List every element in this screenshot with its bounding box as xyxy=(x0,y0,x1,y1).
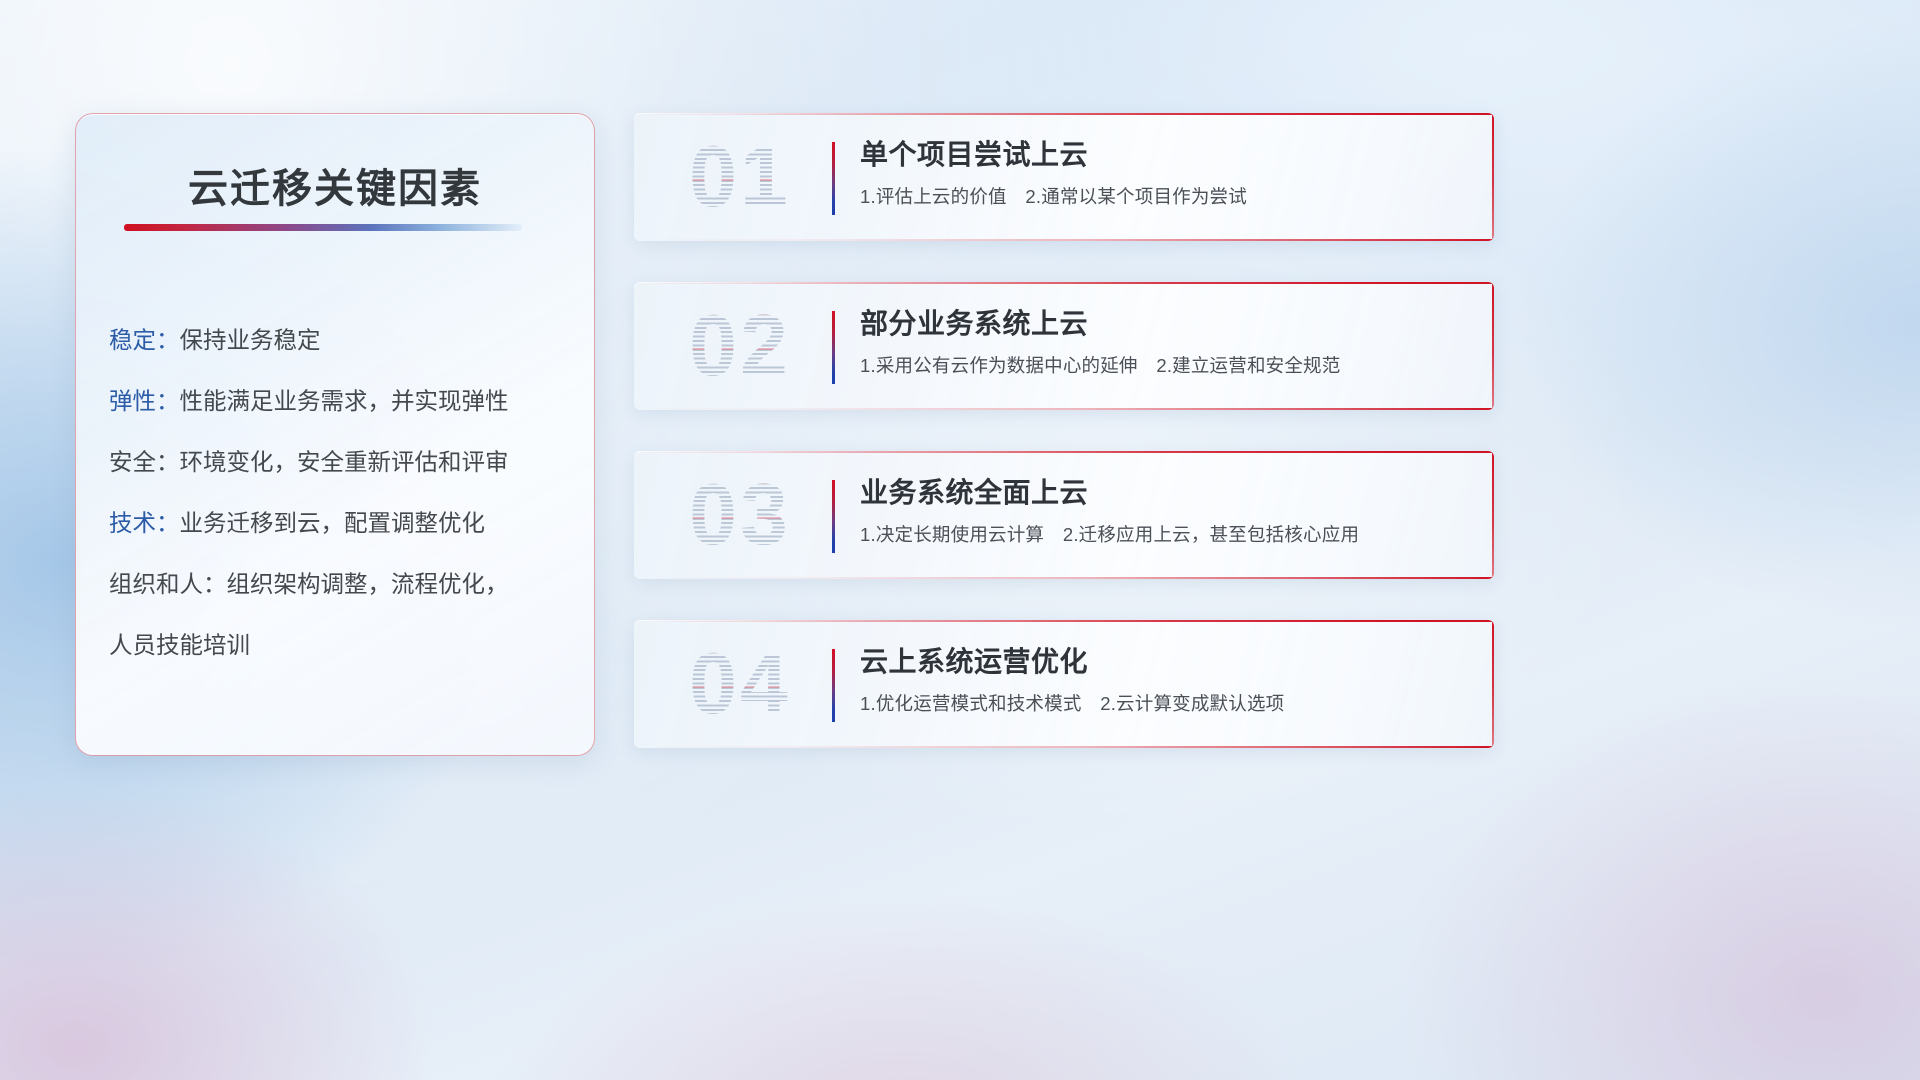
card-title: 云上系统运营优化 xyxy=(860,642,1470,682)
step-number-watermark-red-accent: 03 xyxy=(656,465,824,565)
factor-text: 性能满足业务需求，并实现弹性 xyxy=(180,388,509,414)
factor-label: 技术： xyxy=(109,510,180,536)
card-bottom-accent-line xyxy=(634,239,1494,241)
step-card[interactable]: 0202部分业务系统上云1.采用公有云作为数据中心的延伸 2.建立运营和安全规范 xyxy=(634,282,1494,410)
card-top-accent-line xyxy=(634,620,1494,622)
card-body: 业务系统全面上云1.决定长期使用云计算 2.迁移应用上云，甚至包括核心应用 xyxy=(860,473,1470,548)
card-bottom-accent-line xyxy=(634,408,1494,410)
key-factors-panel: 云迁移关键因素 稳定：保持业务稳定弹性：性能满足业务需求，并实现弹性安全：环境变… xyxy=(75,113,595,756)
factor-label: 弹性： xyxy=(109,388,180,414)
card-body: 部分业务系统上云1.采用公有云作为数据中心的延伸 2.建立运营和安全规范 xyxy=(860,304,1470,379)
card-title: 业务系统全面上云 xyxy=(860,473,1470,513)
card-divider-bar xyxy=(832,480,835,553)
factor-row: 安全：环境变化，安全重新评估和评审 xyxy=(109,432,570,493)
factor-row: 组织和人：组织架构调整，流程优化， xyxy=(109,554,570,615)
card-top-accent-line xyxy=(634,451,1494,453)
factor-text: 人员技能培训 xyxy=(109,632,250,658)
card-title: 部分业务系统上云 xyxy=(860,304,1470,344)
migration-steps-list: 0101单个项目尝试上云1.评估上云的价值 2.通常以某个项目作为尝试0202部… xyxy=(634,113,1494,789)
card-top-accent-line xyxy=(634,282,1494,284)
card-divider-bar xyxy=(832,649,835,722)
card-divider-bar xyxy=(832,311,835,384)
step-number-watermark-red-accent: 02 xyxy=(656,296,824,396)
factor-text: 业务迁移到云，配置调整优化 xyxy=(180,510,486,536)
step-number-watermark-red-accent: 01 xyxy=(656,127,824,227)
title-underline-accent xyxy=(124,224,522,231)
factor-label: 安全： xyxy=(109,449,180,475)
card-title: 单个项目尝试上云 xyxy=(860,135,1470,175)
step-card[interactable]: 0303业务系统全面上云1.决定长期使用云计算 2.迁移应用上云，甚至包括核心应… xyxy=(634,451,1494,579)
card-right-accent-line xyxy=(1492,282,1494,410)
card-body: 单个项目尝试上云1.评估上云的价值 2.通常以某个项目作为尝试 xyxy=(860,135,1470,210)
factor-row: 弹性：性能满足业务需求，并实现弹性 xyxy=(109,371,570,432)
factor-text: 环境变化，安全重新评估和评审 xyxy=(180,449,509,475)
factor-text: 组织架构调整，流程优化， xyxy=(227,571,509,597)
factor-text: 保持业务稳定 xyxy=(180,327,321,353)
card-subtitle: 1.评估上云的价值 2.通常以某个项目作为尝试 xyxy=(860,184,1470,210)
card-right-accent-line xyxy=(1492,451,1494,579)
panel-title: 云迁移关键因素 xyxy=(76,156,594,214)
card-bottom-accent-line xyxy=(634,577,1494,579)
card-subtitle: 1.采用公有云作为数据中心的延伸 2.建立运营和安全规范 xyxy=(860,353,1470,379)
factor-list: 稳定：保持业务稳定弹性：性能满足业务需求，并实现弹性安全：环境变化，安全重新评估… xyxy=(109,310,570,676)
card-right-accent-line xyxy=(1492,620,1494,748)
card-top-accent-line xyxy=(634,113,1494,115)
factor-row: 技术：业务迁移到云，配置调整优化 xyxy=(109,493,570,554)
factor-label: 稳定： xyxy=(109,327,180,353)
card-bottom-accent-line xyxy=(634,746,1494,748)
card-subtitle: 1.优化运营模式和技术模式 2.云计算变成默认选项 xyxy=(860,691,1470,717)
step-card[interactable]: 0101单个项目尝试上云1.评估上云的价值 2.通常以某个项目作为尝试 xyxy=(634,113,1494,241)
card-body: 云上系统运营优化1.优化运营模式和技术模式 2.云计算变成默认选项 xyxy=(860,642,1470,717)
factor-row: 稳定：保持业务稳定 xyxy=(109,310,570,371)
card-right-accent-line xyxy=(1492,113,1494,241)
card-divider-bar xyxy=(832,142,835,215)
step-card[interactable]: 0404云上系统运营优化1.优化运营模式和技术模式 2.云计算变成默认选项 xyxy=(634,620,1494,748)
card-subtitle: 1.决定长期使用云计算 2.迁移应用上云，甚至包括核心应用 xyxy=(860,522,1470,548)
step-number-watermark-red-accent: 04 xyxy=(656,634,824,734)
factor-row: 人员技能培训 xyxy=(109,615,570,676)
factor-label: 组织和人： xyxy=(109,571,227,597)
